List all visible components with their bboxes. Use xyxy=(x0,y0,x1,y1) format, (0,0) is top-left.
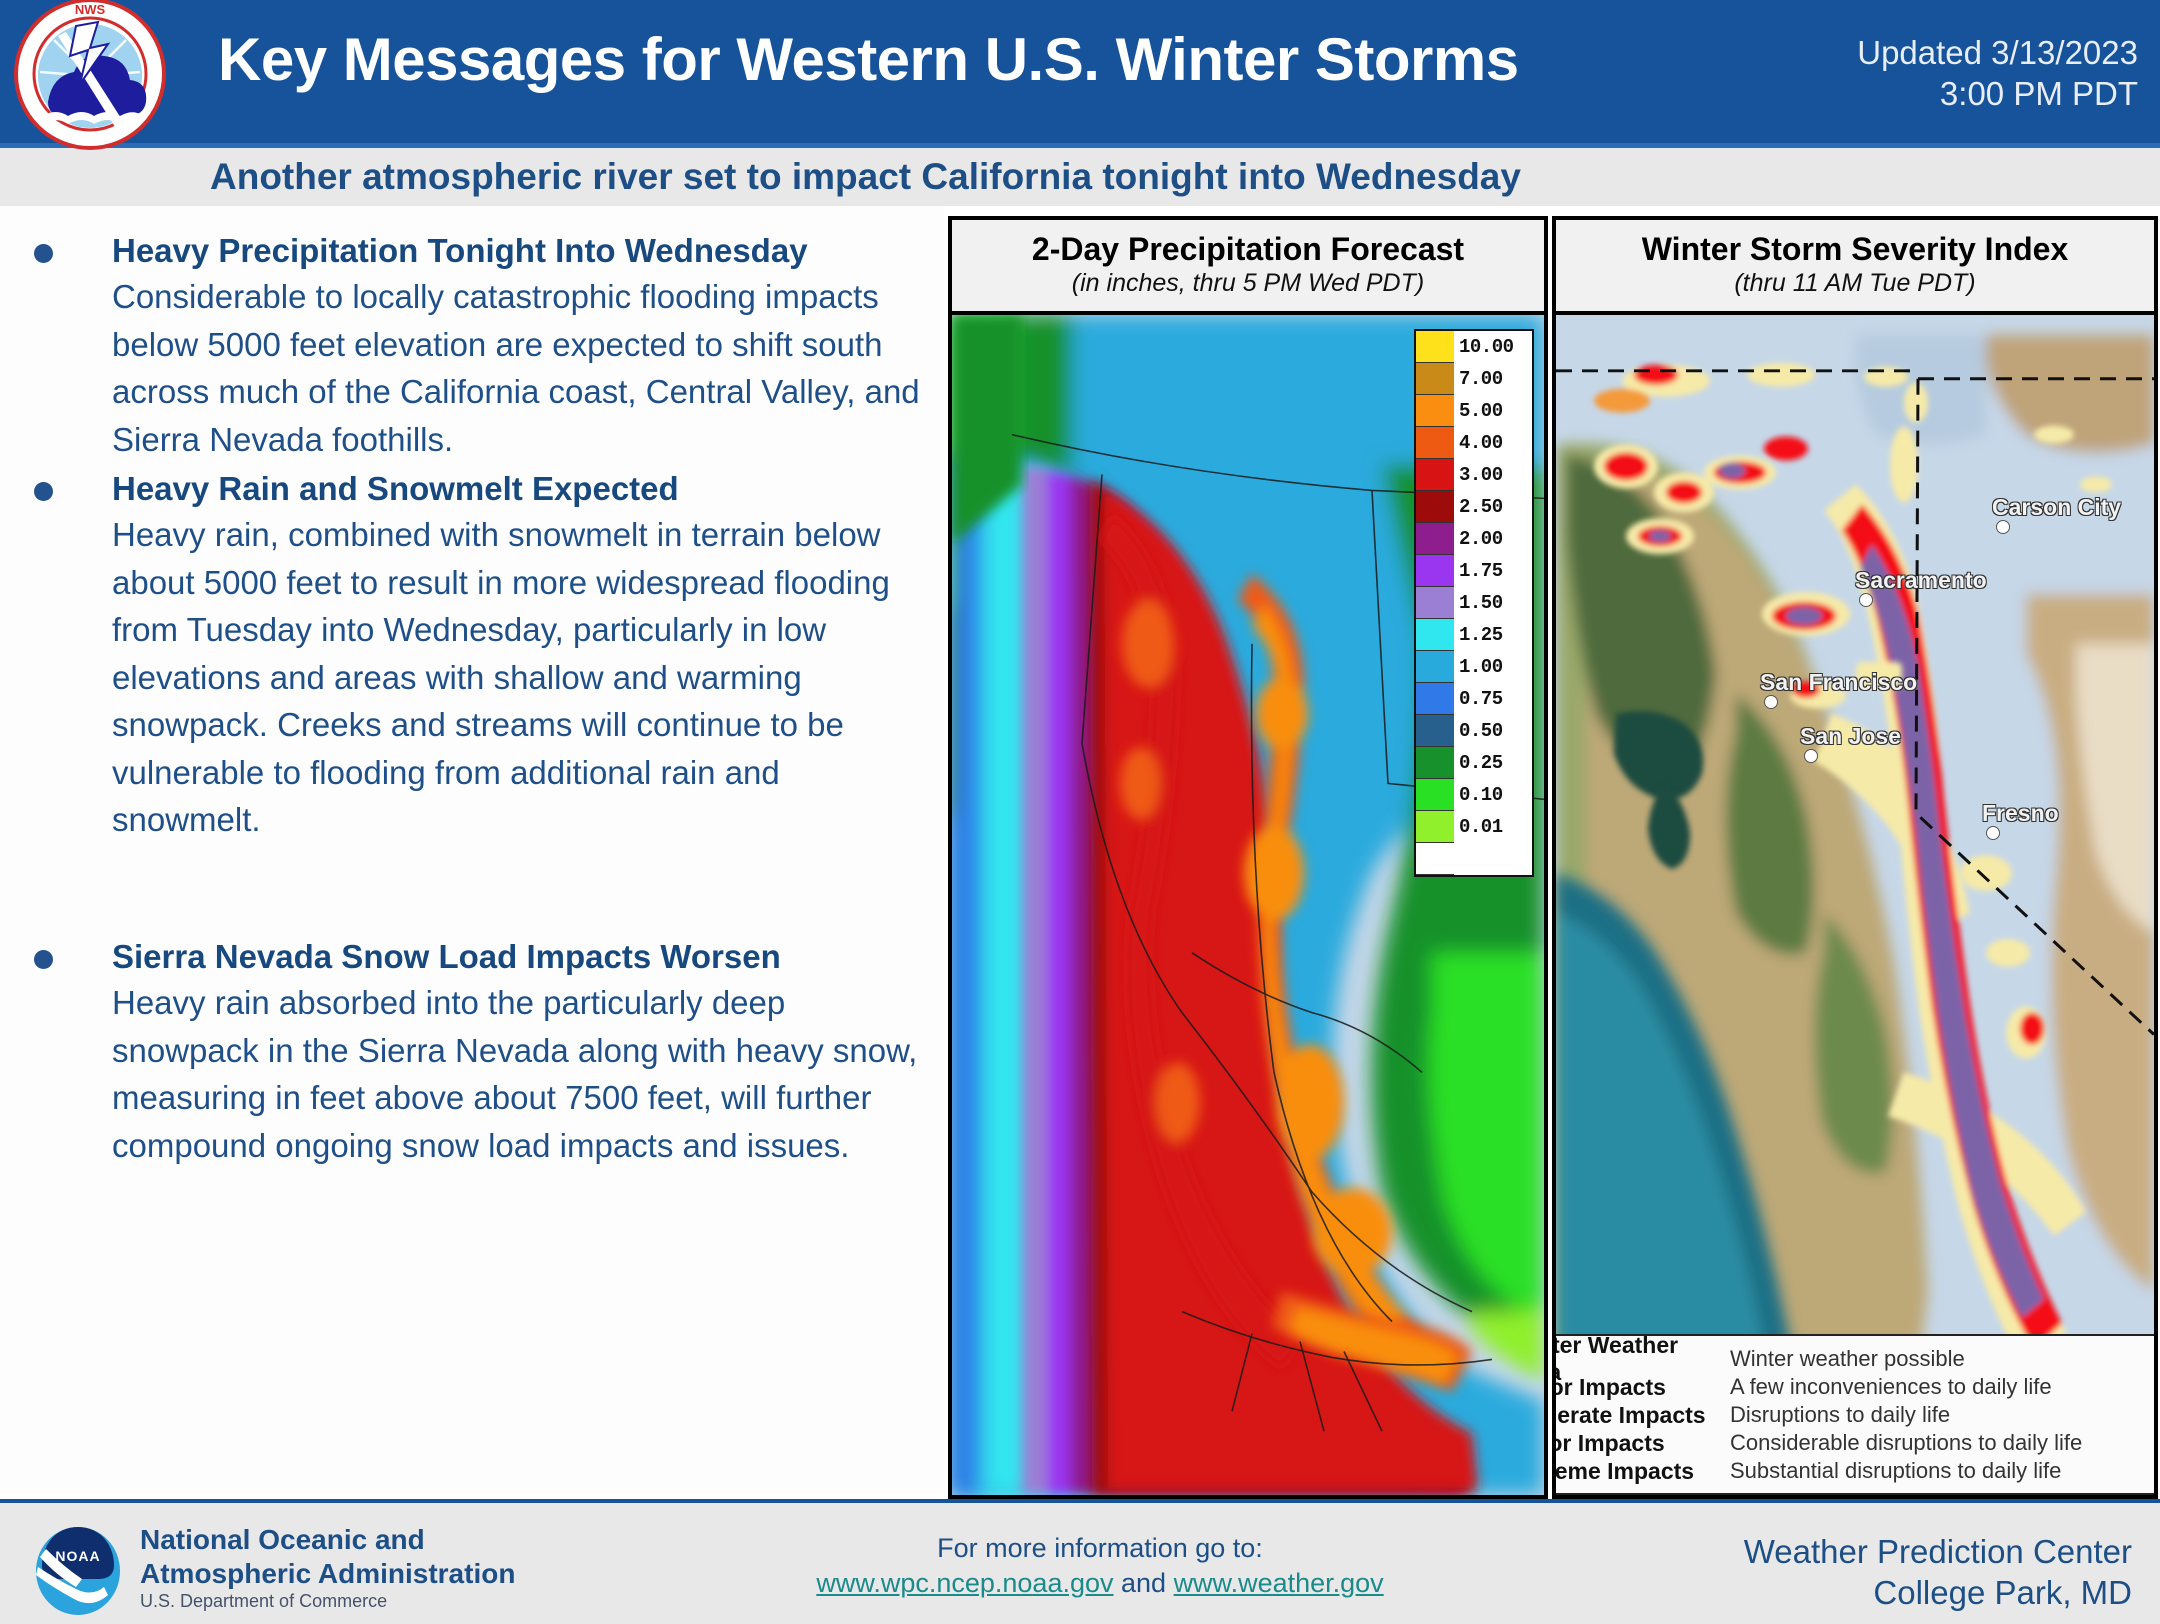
wssi-legend-row: Winter Weather AreaWinter weather possib… xyxy=(1556,1345,2146,1373)
colorbar-label: 4.00 xyxy=(1454,432,1532,454)
bullet-dot-icon xyxy=(34,244,53,263)
svg-text:NOAA: NOAA xyxy=(55,1548,100,1564)
wssi-legend-desc: A few inconveniences to daily life xyxy=(1730,1374,2146,1400)
wssi-map-body: Carson CitySacramentoSan FranciscoSan Jo… xyxy=(1556,315,2154,1495)
wssi-legend-desc: Winter weather possible xyxy=(1730,1346,2146,1372)
national-weather-service-logo: NWS xyxy=(14,0,166,150)
colorbar-row: 5.00 xyxy=(1416,395,1532,427)
footer-bar: NOAA National Oceanic and Atmospheric Ad… xyxy=(0,1499,2160,1624)
city-dot-icon xyxy=(1986,826,2000,840)
colorbar-label: 2.00 xyxy=(1454,528,1532,550)
office-name: Weather Prediction Center xyxy=(1492,1531,2132,1572)
key-messages-list: Heavy Precipitation Tonight Into Wednesd… xyxy=(0,206,944,1494)
noaa-name-line1: National Oceanic and xyxy=(140,1523,515,1557)
colorbar-swatch xyxy=(1416,459,1454,491)
colorbar-label: 1.75 xyxy=(1454,560,1532,582)
colorbar-swatch xyxy=(1416,683,1454,715)
colorbar-swatch xyxy=(1416,779,1454,811)
wssi-legend-desc: Substantial disruptions to daily life xyxy=(1730,1458,2146,1484)
colorbar-label: 0.75 xyxy=(1454,688,1532,710)
key-message-body: Considerable to locally catastrophic flo… xyxy=(112,273,924,463)
key-message-body: Heavy rain absorbed into the particularl… xyxy=(112,979,924,1169)
colorbar-swatch xyxy=(1416,811,1454,843)
wssi-legend-desc: Disruptions to daily life xyxy=(1730,1402,2146,1428)
more-info: For more information go to: www.wpc.ncep… xyxy=(760,1531,1440,1601)
colorbar-label: 2.50 xyxy=(1454,496,1532,518)
office-location: College Park, MD xyxy=(1492,1572,2132,1613)
link-joiner: and xyxy=(1114,1568,1174,1598)
noaa-name-line2: Atmospheric Administration xyxy=(140,1557,515,1591)
precip-panel-title: 2-Day Precipitation Forecast xyxy=(1032,233,1464,267)
wssi-legend-row: Minor ImpactsA few inconveniences to dai… xyxy=(1556,1373,2146,1401)
colorbar-row: 4.00 xyxy=(1416,427,1532,459)
colorbar-label: 1.50 xyxy=(1454,592,1532,614)
colorbar-row: 0.75 xyxy=(1416,683,1532,715)
city-dot-icon xyxy=(1859,593,1873,607)
colorbar-label: 0.10 xyxy=(1454,784,1532,806)
subtitle-text: Another atmospheric river set to impact … xyxy=(210,156,1521,198)
wssi-legend-name: Moderate Impacts xyxy=(1556,1402,1730,1429)
city-dot-icon xyxy=(1996,520,2010,534)
svg-text:NWS: NWS xyxy=(75,2,106,17)
weather-gov-link[interactable]: www.weather.gov xyxy=(1174,1568,1384,1598)
colorbar-swatch xyxy=(1416,747,1454,779)
precip-map-body: 10.007.005.004.003.002.502.001.751.501.2… xyxy=(952,315,1544,1495)
noaa-department: U.S. Department of Commerce xyxy=(140,1591,387,1612)
colorbar-swatch xyxy=(1416,491,1454,523)
colorbar-row: 0.25 xyxy=(1416,747,1532,779)
precipitation-forecast-panel: 2-Day Precipitation Forecast (in inches,… xyxy=(948,216,1548,1499)
colorbar-swatch xyxy=(1416,619,1454,651)
key-message-heading: Heavy Rain and Snowmelt Expected xyxy=(112,468,924,509)
city-dot-icon xyxy=(1764,695,1778,709)
colorbar-swatch xyxy=(1416,587,1454,619)
colorbar-swatch xyxy=(1416,331,1454,363)
bullet-dot-icon xyxy=(34,482,53,501)
colorbar-label: 0.50 xyxy=(1454,720,1532,742)
wssi-legend-name: Extreme Impacts xyxy=(1556,1458,1730,1485)
wpc-link[interactable]: www.wpc.ncep.noaa.gov xyxy=(816,1568,1113,1598)
page-title: Key Messages for Western U.S. Winter Sto… xyxy=(218,28,1778,91)
key-message-body: Heavy rain, combined with snowmelt in te… xyxy=(112,511,924,844)
key-message-item: Sierra Nevada Snow Load Impacts Worsen H… xyxy=(34,936,924,1169)
issuing-office: Weather Prediction Center College Park, … xyxy=(1492,1531,2132,1614)
colorbar-label: 1.00 xyxy=(1454,656,1532,678)
colorbar-swatch xyxy=(1416,715,1454,747)
key-message-heading: Sierra Nevada Snow Load Impacts Worsen xyxy=(112,936,924,977)
colorbar-label: 0.25 xyxy=(1454,752,1532,774)
updated-date: Updated 3/13/2023 xyxy=(1708,32,2138,73)
key-message-item: Heavy Precipitation Tonight Into Wednesd… xyxy=(34,230,924,463)
wssi-panel-header: Winter Storm Severity Index (thru 11 AM … xyxy=(1556,220,2154,315)
colorbar-row: 1.75 xyxy=(1416,555,1532,587)
city-label: San Jose xyxy=(1800,723,1901,750)
colorbar-row: 0.10 xyxy=(1416,779,1532,811)
colorbar-label: 7.00 xyxy=(1454,368,1532,390)
noaa-logo: NOAA xyxy=(30,1517,126,1617)
winter-storm-severity-index-panel: Winter Storm Severity Index (thru 11 AM … xyxy=(1552,216,2158,1499)
colorbar-swatch xyxy=(1416,843,1454,875)
colorbar-label: 5.00 xyxy=(1454,400,1532,422)
colorbar-swatch xyxy=(1416,651,1454,683)
colorbar-swatch xyxy=(1416,523,1454,555)
colorbar-label: 1.25 xyxy=(1454,624,1532,646)
colorbar-label: 3.00 xyxy=(1454,464,1532,486)
key-messages-graphic: NWS Key Messages for Western U.S. Winter… xyxy=(0,0,2160,1620)
key-message-heading: Heavy Precipitation Tonight Into Wednesd… xyxy=(112,230,924,271)
colorbar-label: 0.01 xyxy=(1454,816,1532,838)
colorbar-row: 1.00 xyxy=(1416,651,1532,683)
colorbar-row: 1.25 xyxy=(1416,619,1532,651)
wssi-legend-row: Major ImpactsConsiderable disruptions to… xyxy=(1556,1429,2146,1457)
city-label: Fresno xyxy=(1982,800,2059,827)
wssi-legend-desc: Considerable disruptions to daily life xyxy=(1730,1430,2146,1456)
key-message-item: Heavy Rain and Snowmelt Expected Heavy r… xyxy=(34,468,924,844)
wssi-legend: Winter Weather AreaWinter weather possib… xyxy=(1556,1334,2154,1495)
colorbar-row: 7.00 xyxy=(1416,363,1532,395)
colorbar-row: 0.01 xyxy=(1416,811,1532,843)
colorbar-swatch xyxy=(1416,363,1454,395)
updated-time: 3:00 PM PDT xyxy=(1708,73,2138,114)
colorbar-row xyxy=(1416,843,1532,875)
precipitation-colorbar: 10.007.005.004.003.002.502.001.751.501.2… xyxy=(1414,329,1534,877)
precip-panel-subtitle: (in inches, thru 5 PM Wed PDT) xyxy=(1072,269,1424,298)
city-label: Carson City xyxy=(1992,494,2121,521)
colorbar-row: 1.50 xyxy=(1416,587,1532,619)
colorbar-label: 10.00 xyxy=(1454,336,1532,358)
wssi-legend-name: Minor Impacts xyxy=(1556,1374,1730,1401)
wssi-map-raster xyxy=(1556,315,2154,1495)
colorbar-row: 2.50 xyxy=(1416,491,1532,523)
colorbar-row: 10.00 xyxy=(1416,331,1532,363)
more-info-label: For more information go to: xyxy=(760,1531,1440,1566)
bullet-dot-icon xyxy=(34,950,53,969)
more-info-links: www.wpc.ncep.noaa.gov and www.weather.go… xyxy=(760,1566,1440,1601)
wssi-legend-row: Moderate ImpactsDisruptions to daily lif… xyxy=(1556,1401,2146,1429)
colorbar-row: 3.00 xyxy=(1416,459,1532,491)
colorbar-swatch xyxy=(1416,427,1454,459)
map-panels: 2-Day Precipitation Forecast (in inches,… xyxy=(948,216,2158,1499)
colorbar-swatch xyxy=(1416,555,1454,587)
colorbar-swatch xyxy=(1416,395,1454,427)
colorbar-row: 0.50 xyxy=(1416,715,1532,747)
city-dot-icon xyxy=(1804,749,1818,763)
wssi-panel-subtitle: (thru 11 AM Tue PDT) xyxy=(1734,269,1975,298)
city-label: Sacramento xyxy=(1855,567,1987,594)
city-label: San Francisco xyxy=(1760,669,1917,696)
updated-timestamp: Updated 3/13/2023 3:00 PM PDT xyxy=(1708,32,2138,115)
wssi-legend-row: Extreme ImpactsSubstantial disruptions t… xyxy=(1556,1457,2146,1485)
colorbar-row: 2.00 xyxy=(1416,523,1532,555)
precip-panel-header: 2-Day Precipitation Forecast (in inches,… xyxy=(952,220,1544,315)
noaa-name: National Oceanic and Atmospheric Adminis… xyxy=(140,1523,515,1590)
wssi-legend-name: Major Impacts xyxy=(1556,1430,1730,1457)
wssi-panel-title: Winter Storm Severity Index xyxy=(1642,233,2069,267)
